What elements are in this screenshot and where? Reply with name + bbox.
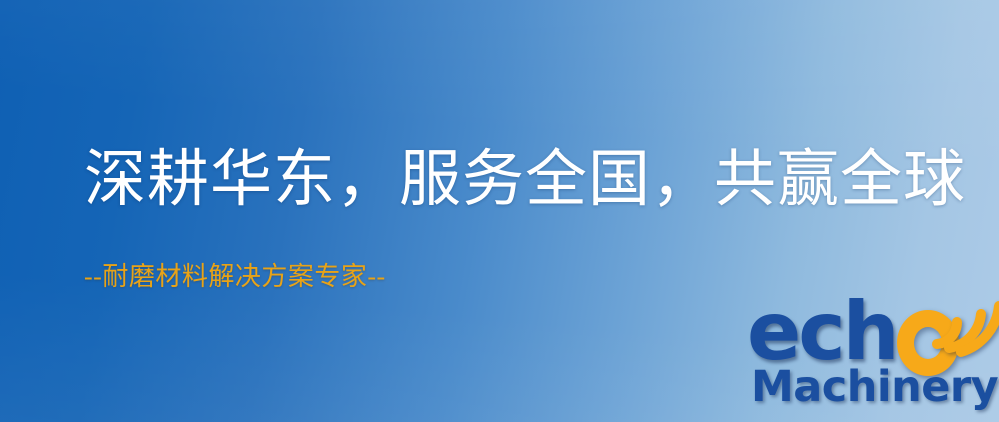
company-logo: ech Machinery® xyxy=(745,296,999,422)
signal-waves-icon xyxy=(931,292,999,358)
logo-tagline-text: Machinery xyxy=(751,362,998,412)
promo-banner: 深耕华东，服务全国，共赢全球 --耐磨材料解决方案专家-- ech Machin… xyxy=(0,0,999,422)
banner-subtitle: --耐磨材料解决方案专家-- xyxy=(84,264,386,290)
banner-headline: 深耕华东，服务全国，共赢全球 xyxy=(84,149,966,211)
logo-brand-text: ech xyxy=(747,292,897,372)
logo-tagline: Machinery® xyxy=(751,366,999,409)
